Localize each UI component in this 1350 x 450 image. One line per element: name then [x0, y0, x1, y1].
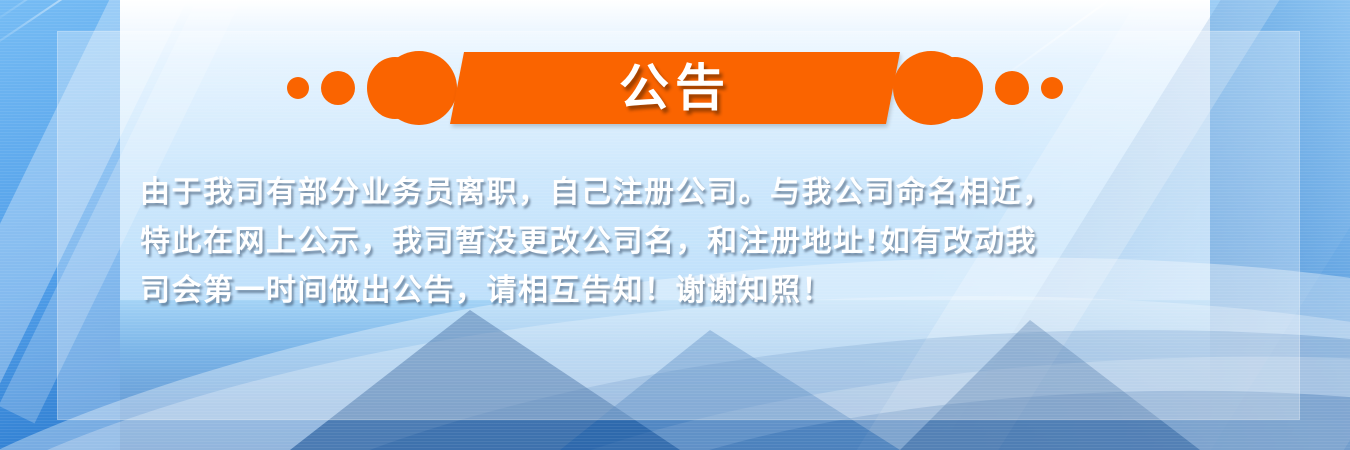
header-ribbon: 公告 [0, 48, 1350, 128]
ribbon-bar: 公告 [450, 52, 900, 124]
crescent-right-icon [893, 51, 927, 125]
dot-medium-icon [995, 71, 1029, 105]
announcement-line: 特此在网上公示，我司暂没更改公司名，和注册地址!如有改动我 [140, 217, 1220, 266]
dot-medium-icon [321, 71, 355, 105]
dot-small-icon [1041, 77, 1063, 99]
announcement-line: 司会第一时间做出公告，请相互告知！谢谢知照！ [140, 266, 1220, 315]
light-streak-2 [0, 0, 229, 32]
announcement-banner: 公告 由于我司有部分业务员离职，自己注册公司。与我公司命名相近， 特此在网上公示… [0, 0, 1350, 450]
ribbon-ornaments-right [893, 51, 1063, 125]
announcement-line: 由于我司有部分业务员离职，自己注册公司。与我公司命名相近， [140, 168, 1220, 217]
announcement-body: 由于我司有部分业务员离职，自己注册公司。与我公司命名相近， 特此在网上公示，我司… [140, 168, 1220, 315]
dot-small-icon [287, 77, 309, 99]
page-title: 公告 [619, 63, 731, 113]
ribbon-ornaments-left [287, 51, 457, 125]
